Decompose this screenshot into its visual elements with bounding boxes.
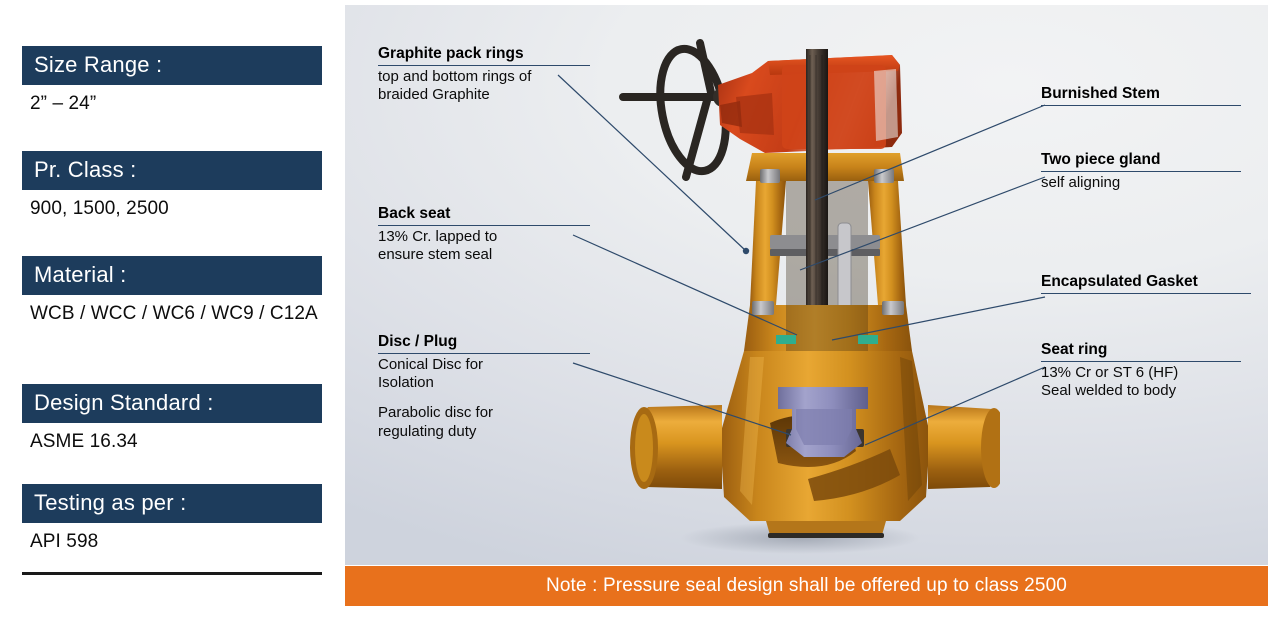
specification-sidebar: Size Range : 2” – 24” Pr. Class : 900, 1…	[0, 0, 345, 628]
callout-title: Back seat	[378, 205, 590, 225]
spec-value-material: WCB / WCC / WC6 / WC9 / C12A	[22, 295, 322, 326]
spec-value-pressure-class: 900, 1500, 2500	[22, 190, 322, 221]
spec-header-pressure-class: Pr. Class :	[22, 151, 322, 190]
spec-header-size-range: Size Range :	[22, 46, 322, 85]
spec-header-testing: Testing as per :	[22, 484, 322, 523]
valve-diagram-panel: Graphite pack rings top and bottom rings…	[345, 5, 1268, 565]
callout-burnished-stem: Burnished Stem	[1041, 85, 1241, 106]
note-text: Note : Pressure seal design shall be off…	[546, 575, 1067, 597]
callout-subtext: 13% Cr. lapped to ensure stem seal	[378, 226, 590, 265]
callout-subtext-secondary: Parabolic disc for regulating duty	[378, 392, 590, 441]
callout-title: Graphite pack rings	[378, 45, 590, 65]
spec-block-size-range: Size Range : 2” – 24”	[22, 46, 322, 117]
callout-subtext: Conical Disc for Isolation	[378, 354, 590, 393]
callout-back-seat: Back seat 13% Cr. lapped to ensure stem …	[378, 205, 590, 264]
callout-graphite-pack-rings: Graphite pack rings top and bottom rings…	[378, 45, 590, 104]
callout-title: Burnished Stem	[1041, 85, 1241, 105]
callout-underline	[1041, 293, 1251, 294]
spec-block-design-standard: Design Standard : ASME 16.34	[22, 384, 322, 455]
valve-body	[630, 351, 1000, 538]
spec-value-testing: API 598	[22, 523, 322, 554]
callout-subtext: top and bottom rings of braided Graphite	[378, 66, 590, 105]
callout-title: Seat ring	[1041, 341, 1241, 361]
spec-header-material: Material :	[22, 256, 322, 295]
spec-value-design-standard: ASME 16.34	[22, 423, 322, 454]
callout-encapsulated-gasket: Encapsulated Gasket	[1041, 273, 1251, 294]
spec-header-design-standard: Design Standard :	[22, 384, 322, 423]
note-banner: Note : Pressure seal design shall be off…	[345, 566, 1268, 606]
spec-block-material: Material : WCB / WCC / WC6 / WC9 / C12A	[22, 256, 322, 327]
spec-value-size-range: 2” – 24”	[22, 85, 322, 116]
spec-block-pressure-class: Pr. Class : 900, 1500, 2500	[22, 151, 322, 222]
callout-underline	[1041, 105, 1241, 106]
sidebar-bottom-divider	[22, 572, 322, 575]
handwheel-icon	[623, 43, 735, 177]
callout-seat-ring: Seat ring 13% Cr or ST 6 (HF) Seal welde…	[1041, 341, 1241, 400]
callout-subtext: self aligning	[1041, 172, 1241, 192]
callout-disc-plug: Disc / Plug Conical Disc for Isolation P…	[378, 333, 590, 441]
spec-block-testing: Testing as per : API 598	[22, 484, 322, 555]
callout-title: Encapsulated Gasket	[1041, 273, 1251, 293]
globe-valve-cutaway-image	[600, 5, 1000, 565]
callout-subtext: 13% Cr or ST 6 (HF) Seal welded to body	[1041, 362, 1241, 401]
callout-title: Two piece gland	[1041, 151, 1241, 171]
callout-title: Disc / Plug	[378, 333, 590, 353]
callout-two-piece-gland: Two piece gland self aligning	[1041, 151, 1241, 192]
